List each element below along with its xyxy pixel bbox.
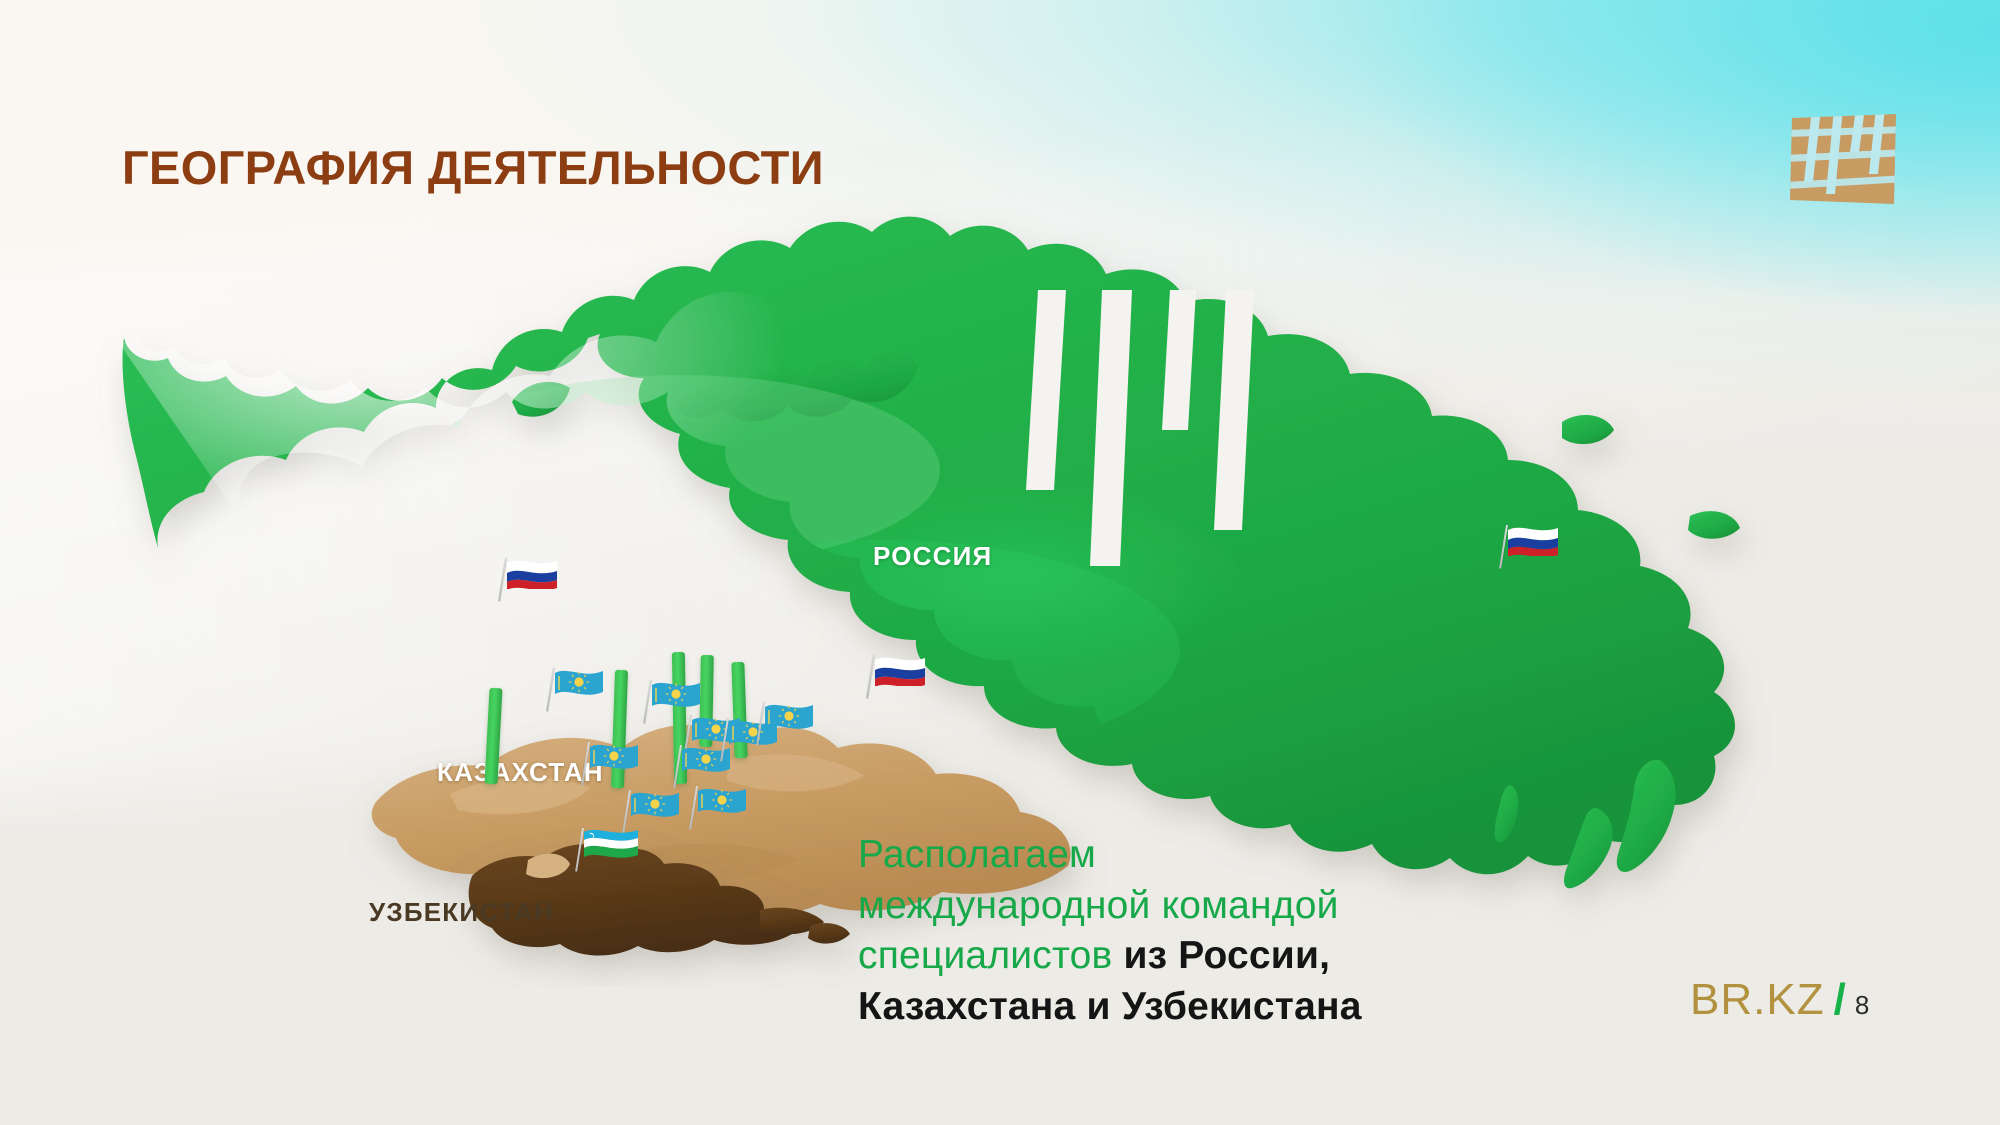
flag-pin-kazakhstan — [690, 715, 691, 716]
brand-separator: / — [1834, 975, 1846, 1025]
uzbekistan-flag-icon — [583, 828, 639, 861]
map-graphic — [120, 170, 1880, 910]
kazakhstan-flag-icon — [697, 786, 747, 818]
worker-photo-overlay — [216, 493, 480, 728]
flag-pin-russia — [1506, 525, 1507, 526]
brand-name: BR.KZ — [1690, 975, 1825, 1025]
map-label-uzbekistan: УЗБЕКИСТАН — [369, 897, 554, 928]
body-line-2: международной командой — [858, 884, 1339, 927]
footer-brand: BR.KZ / 8 — [1690, 975, 1869, 1025]
body-line-1: Располагаем — [858, 833, 1096, 876]
flag-pin-russia — [505, 558, 506, 559]
kazakhstan-flag-icon — [651, 680, 701, 712]
body-paragraph: Располагаем международной командой специ… — [858, 830, 1498, 1033]
flag-pin-kazakhstan — [763, 702, 764, 703]
body-line-4: Казахстана и Узбекистана — [858, 985, 1362, 1028]
flag-pin-russia — [873, 655, 874, 656]
map-label-kazakhstan: КАЗАХСТАН — [437, 757, 604, 788]
kazakhstan-flag-icon — [554, 668, 604, 700]
flag-pin-uzbekistan — [582, 828, 583, 829]
flag-pin-kazakhstan — [696, 786, 697, 787]
russia-flag-icon — [506, 558, 558, 589]
flag-pin-kazakhstan — [727, 718, 728, 719]
russia-flag-icon — [874, 655, 926, 686]
flag-pin-kazakhstan — [553, 668, 554, 669]
kazakhstan-flag-icon — [589, 742, 639, 774]
kazakhstan-flag-icon — [630, 790, 680, 822]
page-number: 8 — [1855, 990, 1869, 1021]
map-label-russia: РОССИЯ — [873, 541, 992, 572]
kazakhstan-flag-icon — [764, 702, 814, 734]
slide-root: ГЕОГРАФИЯ ДЕЯТЕЛЬНОСТИ — [0, 0, 2000, 1125]
body-line-3-dark: из России, — [1123, 934, 1330, 977]
flag-pin-kazakhstan — [650, 680, 651, 681]
flag-pin-kazakhstan — [680, 745, 681, 746]
logo-watermark-overlay — [1020, 290, 1340, 710]
flag-pin-kazakhstan — [629, 790, 630, 791]
body-line-3-green: специалистов — [858, 934, 1112, 977]
flag-pin-kazakhstan — [588, 742, 589, 743]
russia-flag-icon — [1507, 525, 1559, 556]
